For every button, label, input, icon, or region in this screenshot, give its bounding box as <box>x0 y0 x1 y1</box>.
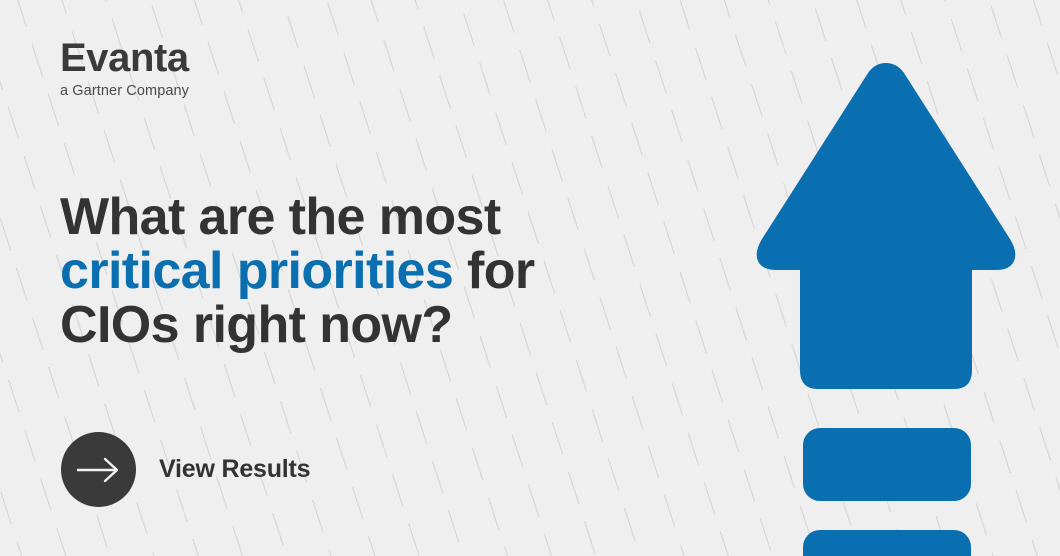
promo-card: Evanta a Gartner Company What are the mo… <box>0 0 1060 556</box>
headline-line-3: CIOs right now? <box>60 296 453 354</box>
brand-wordmark: Evanta <box>60 38 320 78</box>
headline-line-2-suffix: for <box>453 242 534 300</box>
upward-arrow-icon <box>752 58 1020 556</box>
view-results-label: View Results <box>159 455 310 484</box>
brand-logo: Evanta a Gartner Company <box>60 38 320 99</box>
arrow-right-icon[interactable] <box>61 432 136 507</box>
view-results-button[interactable]: View Results <box>61 432 310 507</box>
brand-tagline: a Gartner Company <box>60 84 320 99</box>
headline-accent-text: critical priorities <box>60 242 453 300</box>
page-title: What are the most critical priorities fo… <box>60 190 620 352</box>
headline-line-1: What are the most <box>60 188 501 246</box>
